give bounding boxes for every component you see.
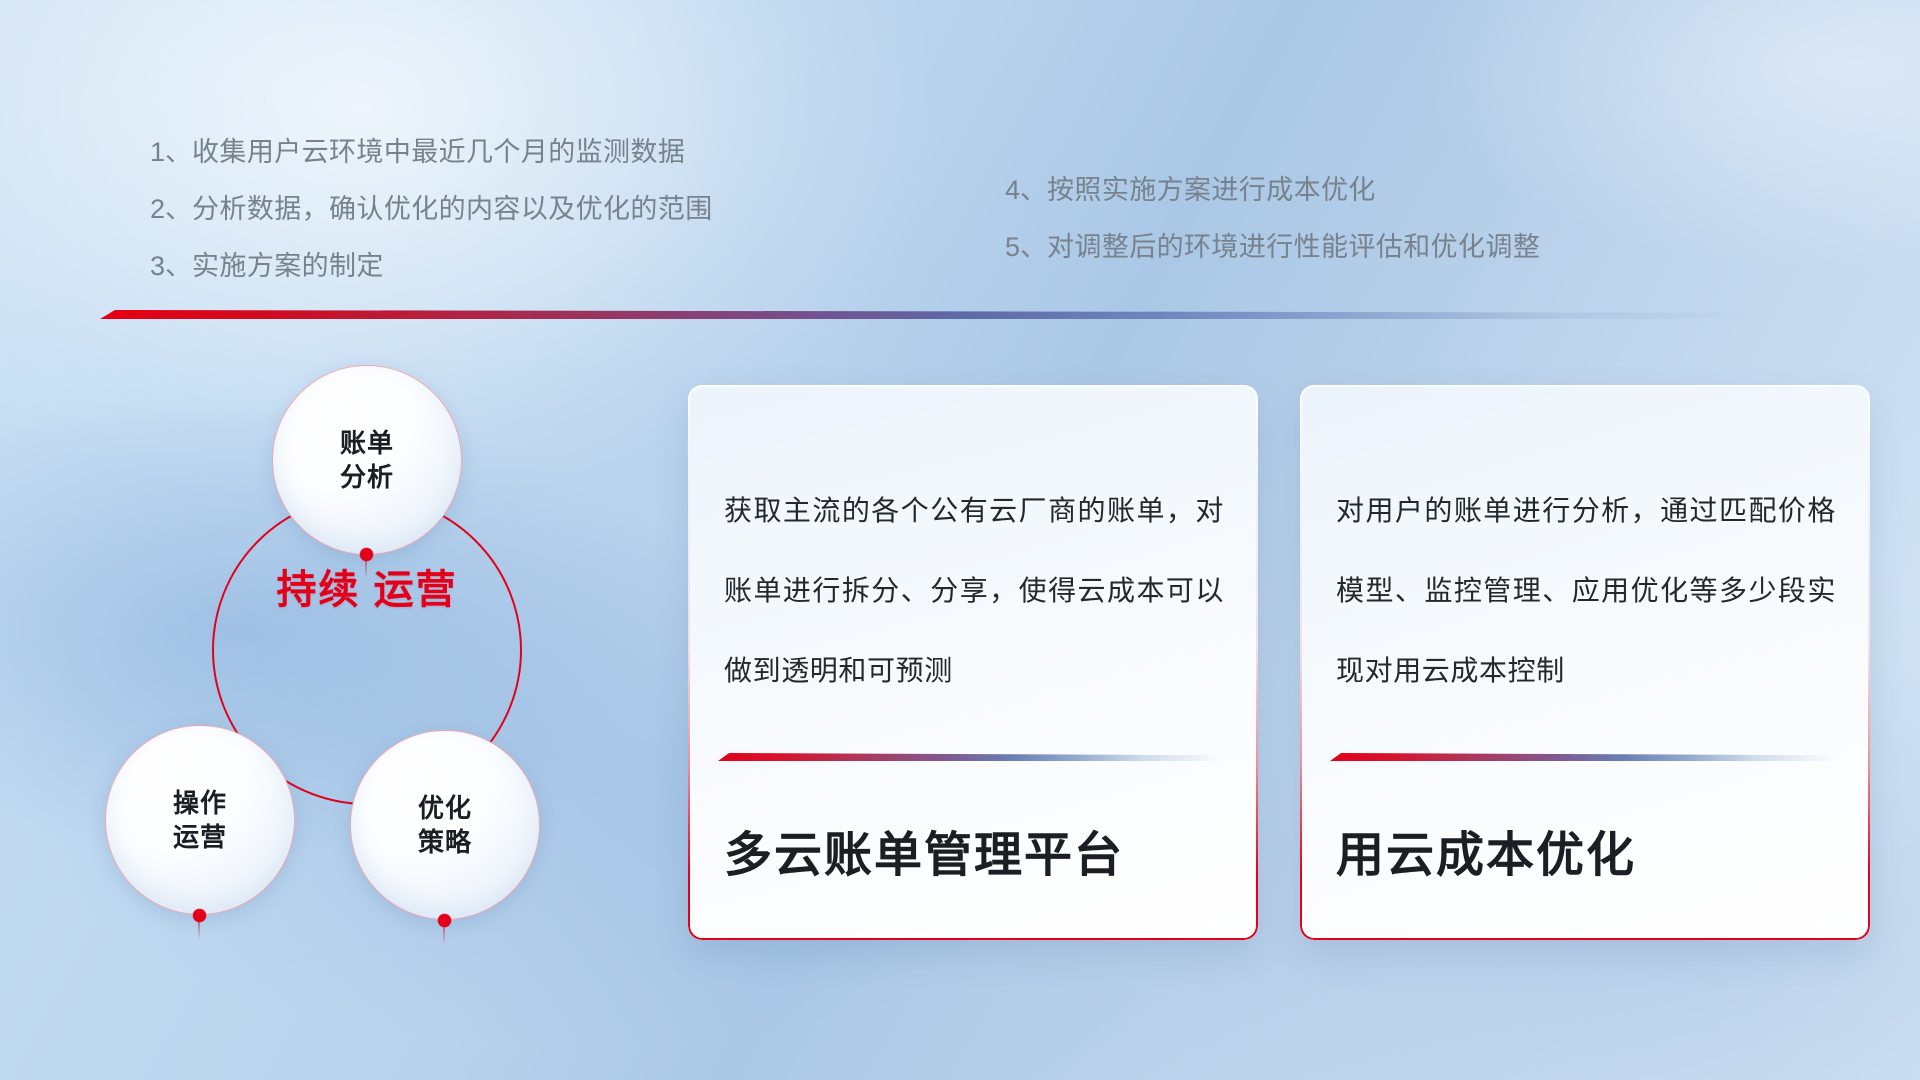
step-item: 1、收集用户云环境中最近几个月的监测数据 <box>150 124 713 181</box>
card-divider <box>718 753 1223 761</box>
card-description: 对用户的账单进行分析，通过匹配价格模型、监控管理、应用优化等多少段实现对用云成本… <box>1336 471 1836 711</box>
bubble-label-line2: 策略 <box>418 825 472 859</box>
card-title: 多云账单管理平台 <box>724 825 1124 887</box>
bubble-label-line1: 优化 <box>418 791 472 825</box>
slide-canvas: 1、收集用户云环境中最近几个月的监测数据 2、分析数据，确认优化的内容以及优化的… <box>0 0 1920 1080</box>
bubble-label-line1: 操作 <box>173 786 227 820</box>
venn-diagram: 持续 运营 账单 分析 操作 运营 优化 策略 <box>60 350 680 1000</box>
step-item: 5、对调整后的环境进行性能评估和优化调整 <box>1005 219 1540 276</box>
node-dot-icon <box>193 909 206 922</box>
step-text: 对调整后的环境进行性能评估和优化调整 <box>1047 232 1540 262</box>
step-index: 1、 <box>150 137 192 167</box>
step-index: 5、 <box>1005 232 1047 262</box>
section-divider <box>100 310 1760 319</box>
step-item: 2、分析数据，确认优化的内容以及优化的范围 <box>150 181 713 238</box>
card-divider <box>1330 753 1835 761</box>
bubble-label-line2: 运营 <box>173 820 227 854</box>
step-index: 4、 <box>1005 175 1047 205</box>
center-label-line1: 持续 <box>276 568 360 612</box>
bubble-operations[interactable]: 操作 运营 <box>105 725 295 915</box>
step-text: 实施方案的制定 <box>192 251 384 281</box>
card-title: 用云成本优化 <box>1336 825 1636 887</box>
bubble-bill-analysis[interactable]: 账单 分析 <box>272 365 462 555</box>
steps-left-column: 1、收集用户云环境中最近几个月的监测数据 2、分析数据，确认优化的内容以及优化的… <box>150 124 713 295</box>
center-label-line2: 运营 <box>374 568 458 612</box>
step-index: 2、 <box>150 194 192 224</box>
feature-card-multicloud-billing[interactable]: 获取主流的各个公有云厂商的账单，对账单进行拆分、分享，使得云成本可以做到透明和可… <box>688 385 1258 940</box>
card-description: 获取主流的各个公有云厂商的账单，对账单进行拆分、分享，使得云成本可以做到透明和可… <box>724 471 1224 711</box>
node-dot-icon <box>360 548 373 561</box>
steps-right-column: 4、按照实施方案进行成本优化 5、对调整后的环境进行性能评估和优化调整 <box>1005 162 1540 276</box>
step-item: 4、按照实施方案进行成本优化 <box>1005 162 1540 219</box>
feature-card-cost-optimization[interactable]: 对用户的账单进行分析，通过匹配价格模型、监控管理、应用优化等多少段实现对用云成本… <box>1300 385 1870 940</box>
bubble-optimization-strategy[interactable]: 优化 策略 <box>350 730 540 920</box>
step-text: 按照实施方案进行成本优化 <box>1047 175 1376 205</box>
step-text: 收集用户云环境中最近几个月的监测数据 <box>192 137 685 167</box>
step-index: 3、 <box>150 251 192 281</box>
bubble-label-line2: 分析 <box>340 460 394 494</box>
node-dot-icon <box>438 914 451 927</box>
step-text: 分析数据，确认优化的内容以及优化的范围 <box>192 194 713 224</box>
bubble-label-line1: 账单 <box>340 426 394 460</box>
step-item: 3、实施方案的制定 <box>150 238 713 295</box>
